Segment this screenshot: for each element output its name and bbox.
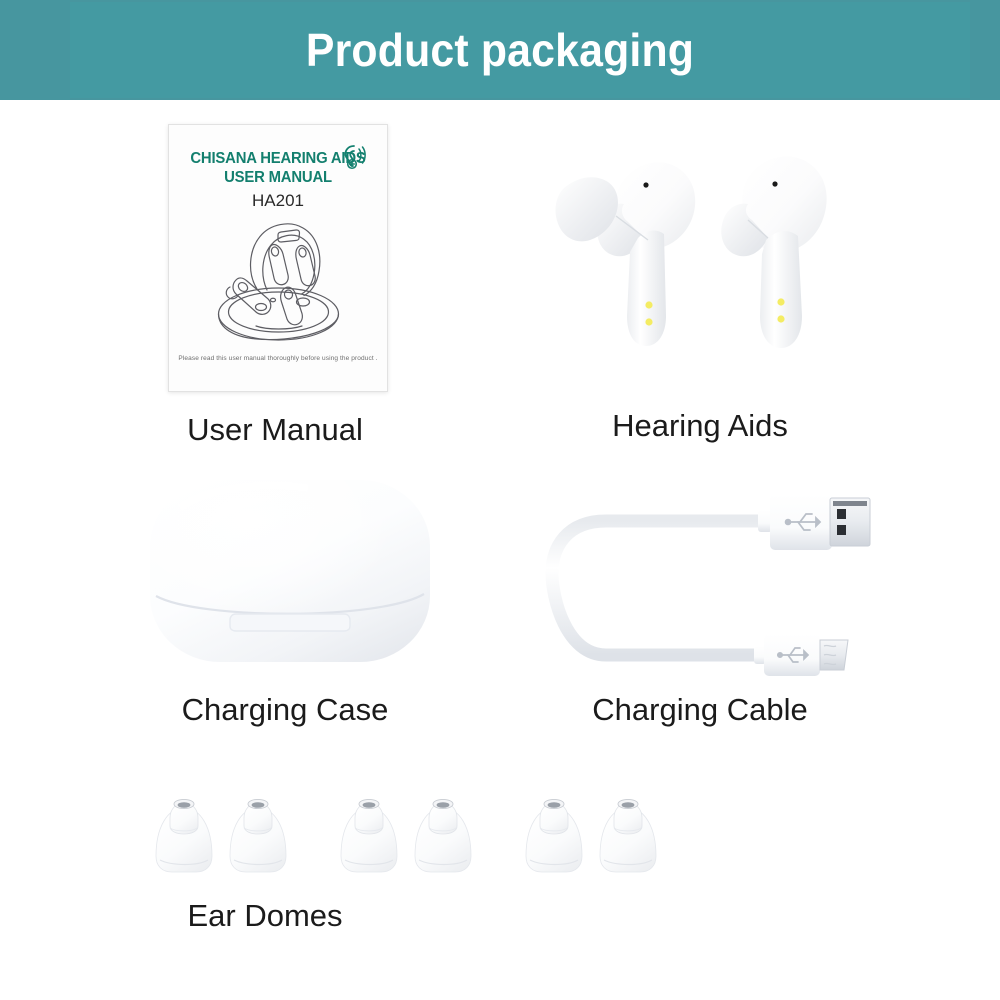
label-charging-cable: Charging Cable: [535, 692, 865, 728]
ear-domes-illustration: [140, 790, 670, 880]
charging-case-illustration: [140, 468, 440, 673]
mic-hole-left: [643, 182, 648, 187]
label-user-manual: User Manual: [110, 412, 440, 448]
label-charging-case: Charging Case: [120, 692, 450, 728]
usb-a-connector: [758, 494, 870, 550]
label-hearing-aids: Hearing Aids: [540, 408, 860, 444]
mic-hole-right: [772, 181, 777, 186]
label-user-manual-cell: User Manual: [110, 412, 440, 456]
charging-cable-illustration: [530, 468, 900, 678]
hearing-aids-illustration: [520, 120, 880, 370]
manual-illustration-line-art: [197, 213, 362, 345]
ear-dome-pair-3: [526, 799, 656, 872]
cable-wire: [552, 521, 762, 655]
manual-footnote: Please read this user manual thoroughly …: [168, 355, 388, 362]
page-title: Product packaging: [35, 0, 965, 100]
manual-model-number: HA201: [169, 191, 387, 211]
label-ear-domes: Ear Domes: [100, 898, 430, 934]
user-manual-card: CHISANA HEARING AIDS USER MANUAL HA201: [168, 124, 388, 392]
hearing-aids-image: [520, 120, 880, 370]
hearing-aid-left: [555, 162, 695, 346]
ear-dome-pair-2: [341, 799, 471, 872]
micro-usb-connector: [754, 634, 848, 676]
charging-case-image: [140, 468, 440, 673]
label-charging-case-cell: Charging Case: [120, 692, 450, 736]
label-ear-domes-cell: Ear Domes: [100, 898, 430, 942]
hearing-aid-ear-icon: [339, 142, 369, 172]
ear-dome-pair-1: [156, 799, 286, 872]
charging-cable-image: [530, 468, 900, 678]
ear-domes-image: [140, 790, 670, 880]
hearing-aid-right: [721, 156, 826, 348]
label-charging-cable-cell: Charging Cable: [535, 692, 865, 736]
case-lid-notch: [230, 614, 350, 631]
label-hearing-aids-cell: Hearing Aids: [540, 408, 860, 452]
